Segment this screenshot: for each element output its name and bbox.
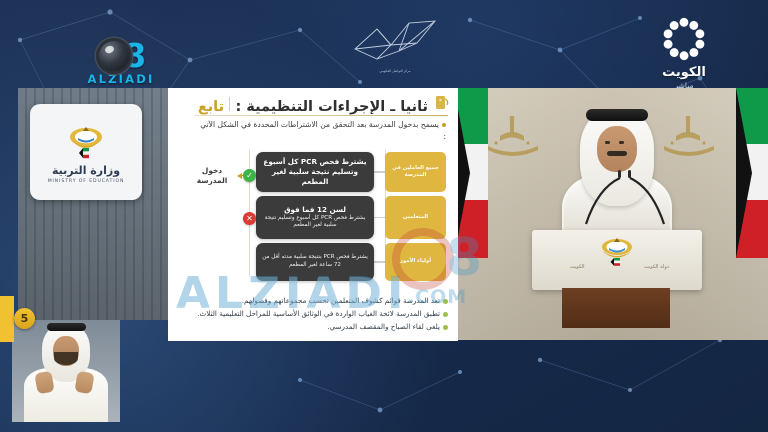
condition-box: يشترط فحص PCR بنتيجة سلبية مدته أقل من 7… xyxy=(256,243,374,281)
broadcast-screen: مركز التواصل الحكومي الكويت مباشر xyxy=(0,0,768,432)
list-item: تطبق المدرسة لائحة الغياب الواردة في الو… xyxy=(180,309,448,319)
bullet-dot-icon xyxy=(443,312,448,317)
row-connector xyxy=(374,261,385,262)
ministry-panel: وزارة التربية MINISTRY OF EDUCATION xyxy=(18,88,168,320)
condition-sub: يشترط فحص PCR بنتيجة سلبية مدته أقل من 7… xyxy=(262,254,368,270)
podium-base xyxy=(562,288,670,328)
slide-intro: يسمح بدخول المدرسة بعد التحقق من الاشترا… xyxy=(198,119,446,144)
slide-bullet-list: تعد المدرسة قوائم كشوف المتعلمين تحسب مج… xyxy=(180,296,448,335)
condition-title: يشترط فحص PCR كل أسبوع وتسليم نتيجة سلبي… xyxy=(262,157,368,186)
q8-brand-name: ALZIADI xyxy=(88,72,155,86)
interpreter-hand-left xyxy=(34,371,54,395)
presentation-slide: ثانيا ـ الإجراءات التنظيمية : تابع يسمح … xyxy=(168,88,458,341)
interpreter-igal xyxy=(47,323,86,331)
speaker-igal xyxy=(586,109,648,121)
header-rule xyxy=(194,115,448,116)
bullet-dot-icon xyxy=(443,299,448,304)
ministry-logo-card: وزارة التربية MINISTRY OF EDUCATION xyxy=(30,104,142,200)
ksa-logo-caption: مركز التواصل الحكومي xyxy=(380,69,411,74)
bird-wireframe-icon xyxy=(347,15,443,67)
slide-title: ثانيا ـ الإجراءات التنظيمية : xyxy=(235,99,428,115)
header-divider xyxy=(229,97,230,111)
slide-header: ثانيا ـ الإجراءات التنظيمية : تابع xyxy=(182,94,450,115)
speaker-eye-left xyxy=(605,141,610,144)
diagram-row: أولياء الأمور يشترط فحص PCR بنتيجة سلبية… xyxy=(256,243,446,281)
speaker-face xyxy=(597,126,637,172)
condition-sub: يشترط فحص PCR كل أسبوع وتسليم نتيجة سلبي… xyxy=(262,215,368,231)
bullet-text: تعد المدرسة قوائم كشوف المتعلمين تحسب مج… xyxy=(242,296,440,306)
sign-language-interpreter xyxy=(12,320,120,422)
kuwait-tv-logo: الكويت مباشر xyxy=(636,14,732,90)
pen-icon xyxy=(433,94,450,111)
list-item: يلغى لقاء الصباح والمقصف المدرسي. xyxy=(180,322,448,332)
row-connector xyxy=(374,171,385,172)
podium-emblem-icon xyxy=(598,234,636,270)
kuwait-flag-left xyxy=(458,88,488,288)
entry-label: دخول المدرسة xyxy=(186,166,238,186)
requirements-diagram: دخول المدرسة ✓ ✕ جميع العاملين في المدرس… xyxy=(178,144,450,284)
podium-inscription-right: دولة الكويت xyxy=(644,264,669,270)
condition-box: لسن 12 فما فوق يشترط فحص PCR كل أسبوع وت… xyxy=(256,196,374,239)
wall-calligraphy-icon xyxy=(482,116,544,158)
speaker-eye-right xyxy=(619,141,624,144)
group-label: أولياء الأمور xyxy=(385,243,446,281)
intro-bullet-dot xyxy=(442,123,446,127)
channel-number-badge: 5 xyxy=(14,308,35,329)
ministry-name-en: MINISTRY OF EDUCATION xyxy=(48,179,125,184)
diagram-row: جميع العاملين في المدرسة يشترط فحص PCR ك… xyxy=(256,152,446,192)
bullet-text: يلغى لقاء الصباح والمقصف المدرسي. xyxy=(327,322,440,332)
kuwait-flag-right xyxy=(736,88,768,288)
kuwait-tv-mark-icon xyxy=(658,14,710,64)
kuwait-emblem-icon xyxy=(66,121,106,161)
condition-box: يشترط فحص PCR كل أسبوع وتسليم نتيجة سلبي… xyxy=(256,152,374,192)
list-item: تعد المدرسة قوائم كشوف المتعلمين تحسب مج… xyxy=(180,296,448,306)
speaker-moustache xyxy=(607,151,627,156)
government-comm-logo: مركز التواصل الحكومي xyxy=(340,8,450,80)
live-video-feed: الكويت دولة الكويت xyxy=(458,88,768,340)
interpreter-beard xyxy=(54,352,78,365)
condition-title: لسن 12 فما فوق xyxy=(284,205,346,215)
microphone-stems-icon xyxy=(576,176,686,238)
group-label: جميع العاملين في المدرسة xyxy=(385,152,446,192)
slide-title-prefix: تابع xyxy=(198,99,224,115)
podium-inscription-left: الكويت xyxy=(570,264,585,270)
diagram-row: المتعلمين لسن 12 فما فوق يشترط فحص PCR ك… xyxy=(256,196,446,239)
camera-lens-icon xyxy=(96,38,132,74)
ministry-name-ar: وزارة التربية xyxy=(52,164,120,177)
bullet-text: تطبق المدرسة لائحة الغياب الواردة في الو… xyxy=(197,309,440,319)
yellow-accent-strip xyxy=(0,296,14,342)
bullet-dot-icon xyxy=(443,325,448,330)
channel-name: الكويت xyxy=(662,65,706,80)
check-mark-icon: ✓ xyxy=(243,169,256,182)
row-connector xyxy=(374,217,385,218)
entry-label-text: دخول المدرسة xyxy=(197,166,228,185)
group-label: المتعلمين xyxy=(385,196,446,239)
intro-text: يسمح بدخول المدرسة بعد التحقق من الاشترا… xyxy=(200,120,446,141)
cross-mark-icon: ✕ xyxy=(243,212,256,225)
